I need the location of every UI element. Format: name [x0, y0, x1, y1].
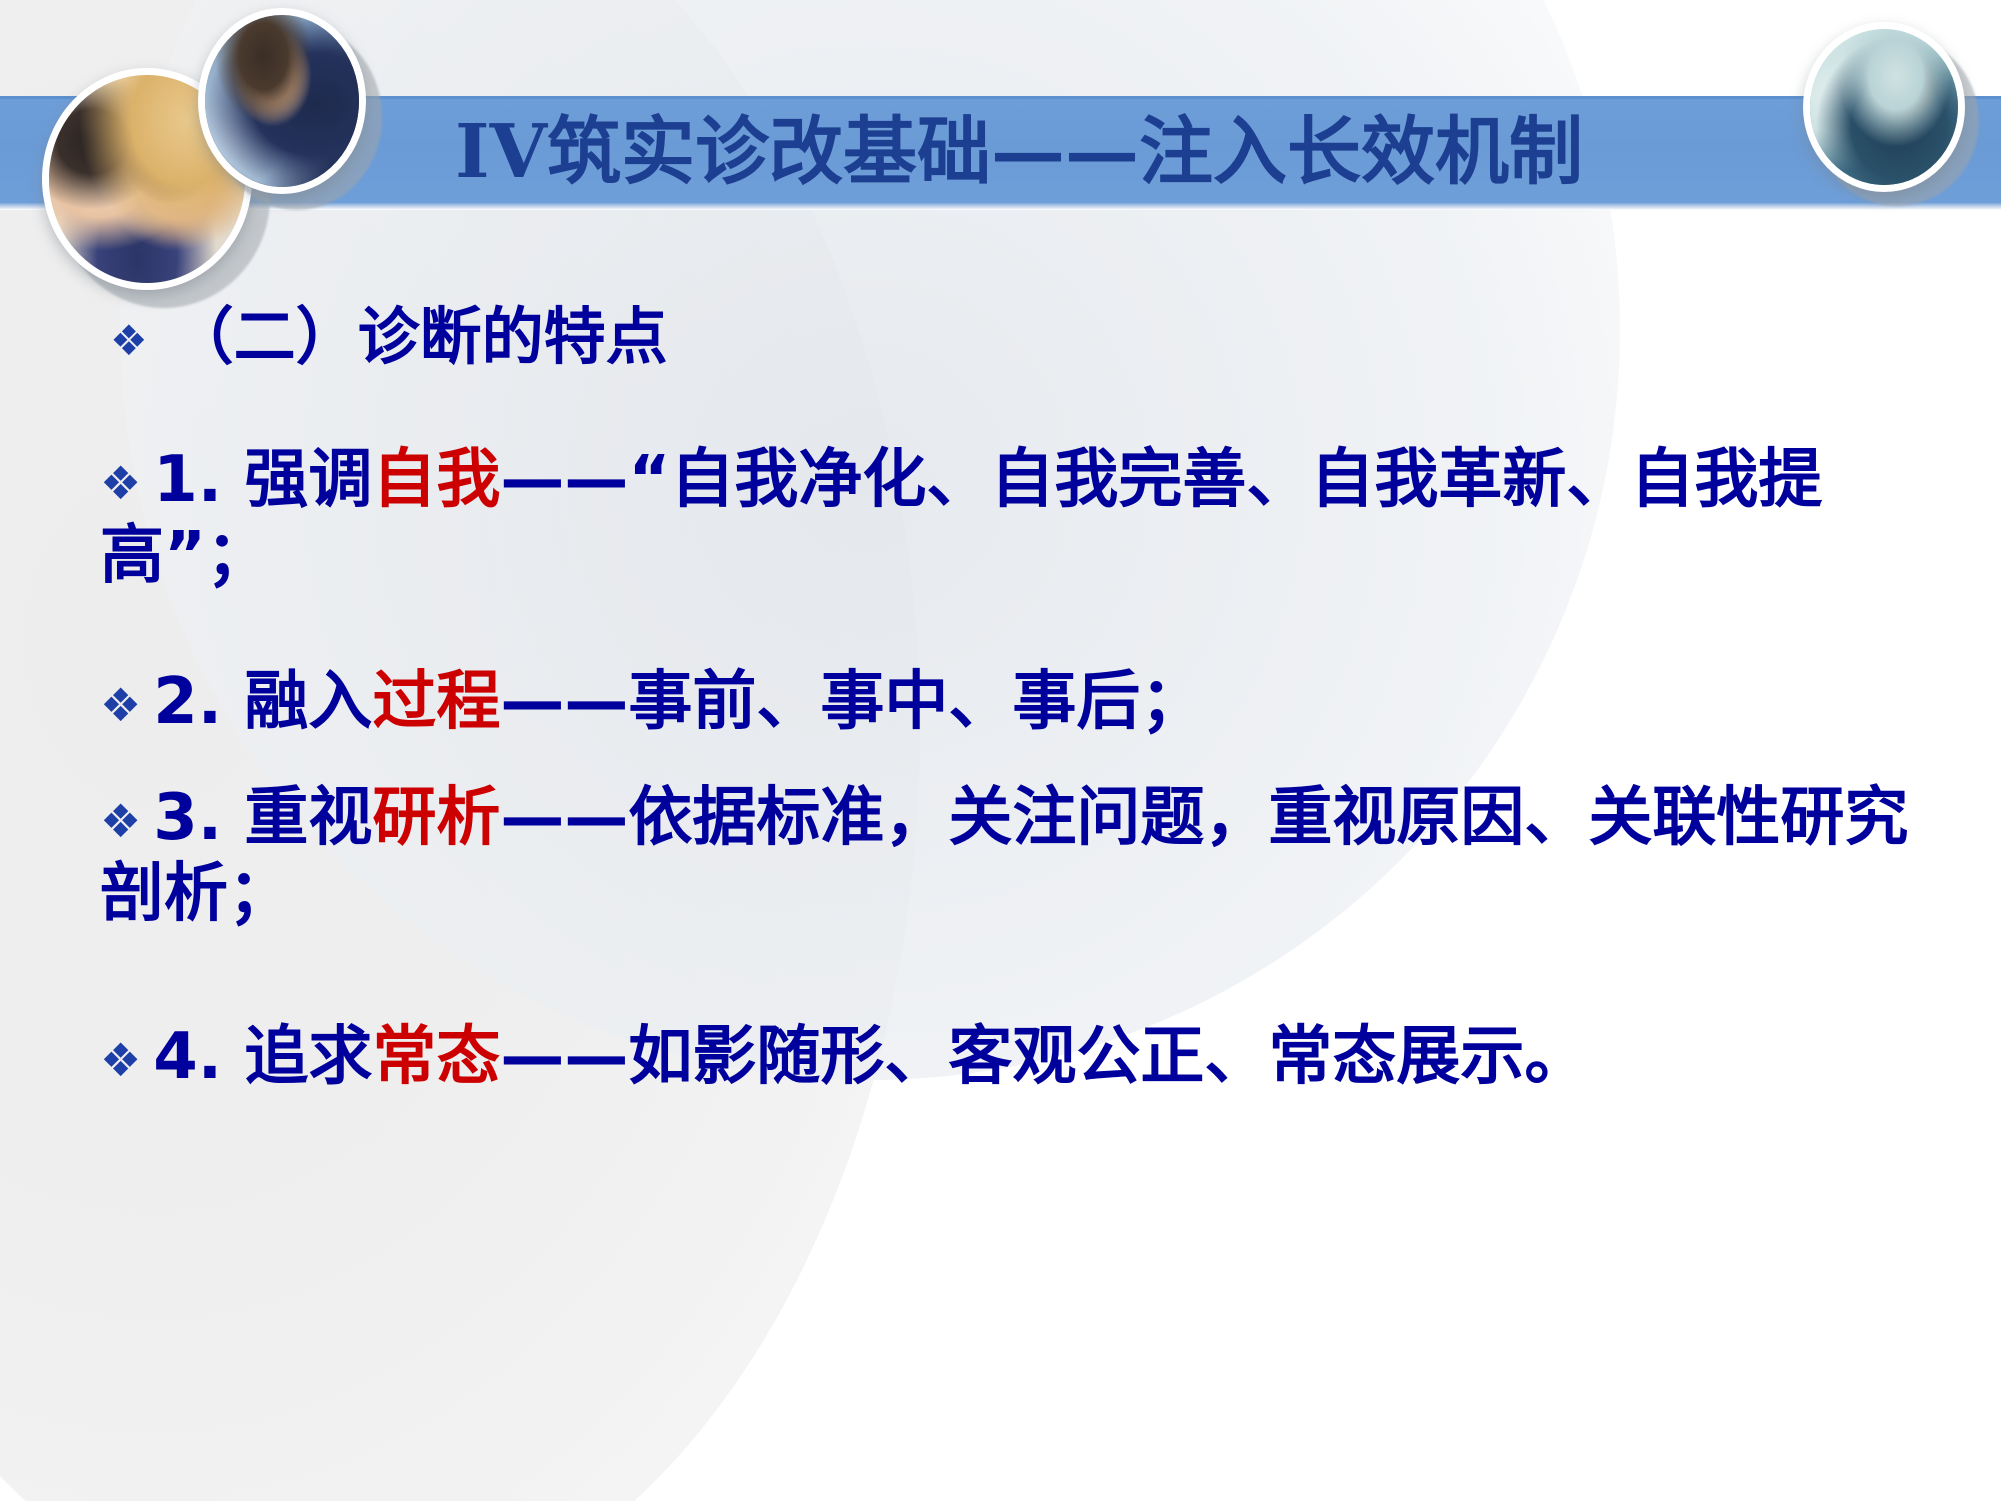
- body-heading-text: （二）诊断的特点: [172, 300, 668, 373]
- bullet-1-index: 1.: [153, 443, 222, 517]
- bullet-4-highlight: 常态: [372, 1020, 500, 1094]
- bullet-item-4: ❖4. 追求常态——如影随形、客观公正、常态展示。: [100, 1005, 1588, 1097]
- bullet-4-post: ——如影随形、客观公正、常态展示。: [500, 1020, 1588, 1094]
- diamond-bullet-icon: ❖: [110, 320, 148, 362]
- bullet-3-pre: 重视: [222, 781, 372, 855]
- bullet-4-pre: 追求: [222, 1020, 372, 1094]
- presentation-slide: IV筑实诊改基础——注入长效机制 ❖（二）诊断的特点 ❖1. 强调自我——“自我…: [0, 0, 2001, 1501]
- diamond-bullet-icon: ❖: [100, 798, 141, 844]
- slide-title: IV筑实诊改基础——注入长效机制: [455, 100, 1715, 204]
- bullet-2-highlight: 过程: [372, 665, 500, 739]
- bullet-item-1: ❖1. 强调自我——“自我净化、自我完善、自我革新、自我提高”；: [100, 442, 1890, 594]
- photo-presenter: [1803, 22, 1965, 192]
- slide-body: ❖（二）诊断的特点 ❖1. 强调自我——“自我净化、自我完善、自我革新、自我提高…: [0, 250, 2001, 1500]
- diamond-bullet-icon: ❖: [100, 460, 141, 506]
- photo-presenter-image: [1810, 29, 1958, 185]
- bullet-1-pre: 强调: [222, 443, 372, 517]
- bullet-2-post: ——事前、事中、事后；: [500, 665, 1204, 739]
- bullet-3-index: 3.: [153, 781, 222, 855]
- photo-handshake: [198, 8, 366, 194]
- body-heading-line: ❖（二）诊断的特点: [110, 286, 668, 376]
- bullet-2-pre: 融入: [222, 665, 372, 739]
- bullet-1-highlight: 自我: [372, 443, 500, 517]
- bullet-item-3: ❖3. 重视研析——依据标准，关注问题，重视原因、关联性研究剖析；: [100, 780, 1940, 932]
- bullet-3-highlight: 研析: [372, 781, 500, 855]
- diamond-bullet-icon: ❖: [100, 682, 141, 728]
- bullet-item-2: ❖2. 融入过程——事前、事中、事后；: [100, 650, 1204, 742]
- bullet-4-index: 4.: [153, 1020, 222, 1094]
- photo-handshake-image: [205, 15, 359, 187]
- diamond-bullet-icon: ❖: [100, 1037, 141, 1083]
- bullet-2-index: 2.: [153, 665, 222, 739]
